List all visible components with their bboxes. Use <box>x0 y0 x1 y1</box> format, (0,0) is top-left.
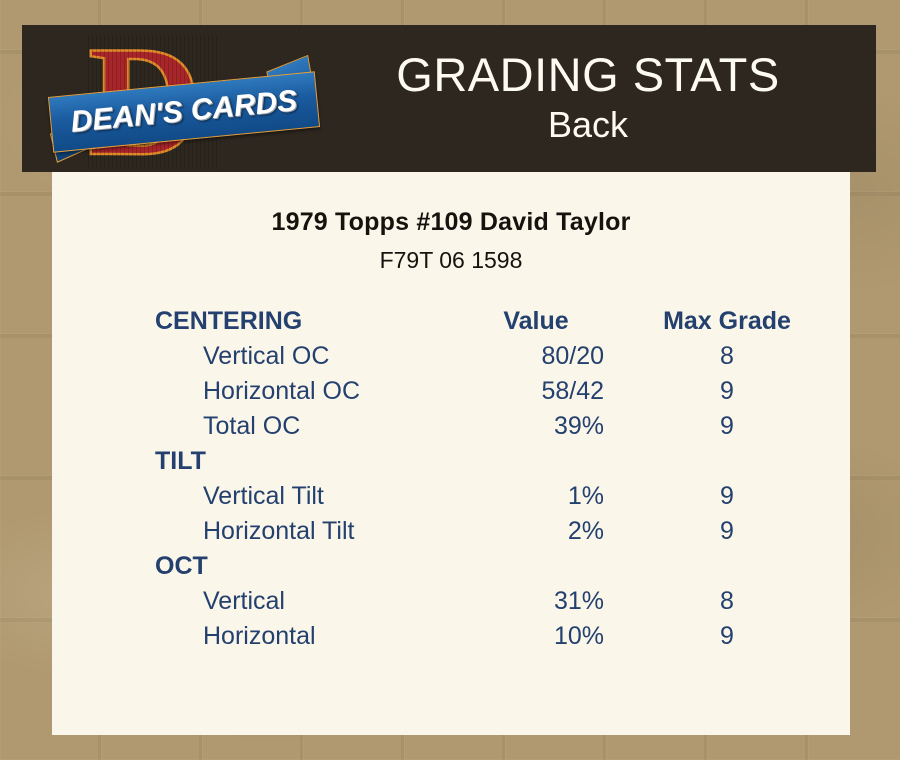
table-row: Horizontal Tilt2%9 <box>52 514 850 549</box>
row-max-grade: 9 <box>652 514 850 549</box>
row-max-grade: 8 <box>652 584 850 619</box>
empty-cell <box>472 444 652 479</box>
section-header-row: TILT <box>52 444 850 479</box>
section-header-oct: OCT <box>52 549 472 584</box>
logo-ribbon-text: DEAN'S CARDS <box>69 84 298 140</box>
row-value: 10% <box>472 619 652 654</box>
section-header-tilt: TILT <box>52 444 472 479</box>
empty-cell <box>472 549 652 584</box>
table-body: Vertical OC80/208Horizontal OC58/429Tota… <box>52 339 850 654</box>
row-label: Horizontal Tilt <box>52 514 472 549</box>
row-max-grade: 9 <box>652 619 850 654</box>
table-row: Horizontal10%9 <box>52 619 850 654</box>
table-header-row: CENTERING Value Max Grade <box>52 304 850 339</box>
row-value: 58/42 <box>472 374 652 409</box>
empty-cell <box>652 444 850 479</box>
row-max-grade: 9 <box>652 374 850 409</box>
row-label: Horizontal <box>52 619 472 654</box>
row-max-grade: 8 <box>652 339 850 374</box>
row-label: Total OC <box>52 409 472 444</box>
grading-stats-table: CENTERING Value Max Grade Vertical OC80/… <box>52 304 850 654</box>
section-header-row: OCT <box>52 549 850 584</box>
table-row: Horizontal OC58/429 <box>52 374 850 409</box>
row-value: 39% <box>472 409 652 444</box>
header-title-group: GRADING STATS Back <box>300 25 876 172</box>
column-header-value: Value <box>472 304 652 339</box>
content-panel: 1979 Topps #109 David Taylor F79T 06 159… <box>52 172 850 735</box>
row-value: 2% <box>472 514 652 549</box>
table-row: Total OC39%9 <box>52 409 850 444</box>
card-title: 1979 Topps #109 David Taylor <box>52 208 850 237</box>
row-label: Vertical <box>52 584 472 619</box>
row-value: 1% <box>472 479 652 514</box>
page-subtitle: Back <box>548 102 628 147</box>
column-header-category: CENTERING <box>52 304 472 339</box>
row-value: 80/20 <box>472 339 652 374</box>
deans-cards-logo: D DEAN'S CARDS <box>50 29 320 169</box>
row-label: Vertical OC <box>52 339 472 374</box>
empty-cell <box>652 549 850 584</box>
table-row: Vertical Tilt1%9 <box>52 479 850 514</box>
row-max-grade: 9 <box>652 409 850 444</box>
row-label: Vertical Tilt <box>52 479 472 514</box>
card-serial-number: F79T 06 1598 <box>52 247 850 274</box>
table-row: Vertical31%8 <box>52 584 850 619</box>
row-label: Horizontal OC <box>52 374 472 409</box>
row-value: 31% <box>472 584 652 619</box>
row-max-grade: 9 <box>652 479 850 514</box>
table-head: CENTERING Value Max Grade <box>52 304 850 339</box>
page-title: GRADING STATS <box>396 50 779 99</box>
column-header-max-grade: Max Grade <box>652 304 850 339</box>
table-row: Vertical OC80/208 <box>52 339 850 374</box>
